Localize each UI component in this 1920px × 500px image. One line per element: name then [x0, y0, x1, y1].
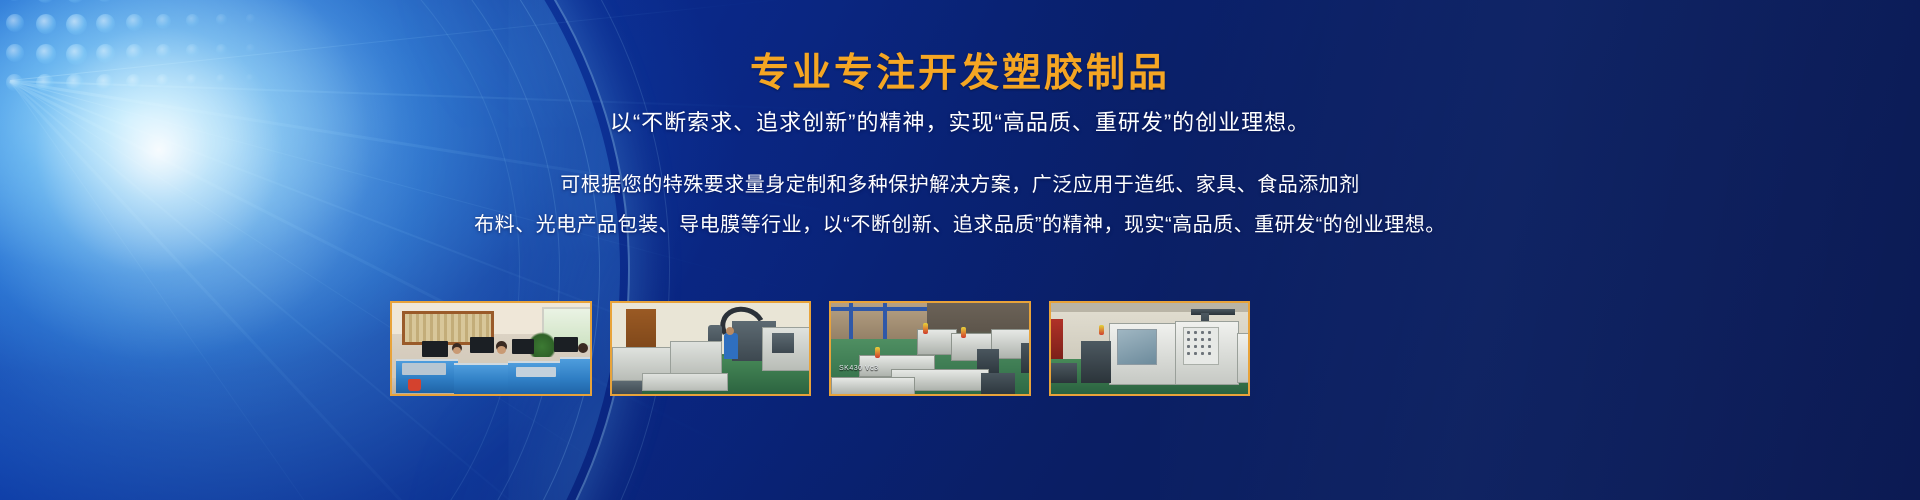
photo-gallery: SK430 Vc3: [390, 301, 1250, 396]
gallery-photo-cnc-workshop[interactable]: [610, 301, 812, 396]
banner-subheadline: 以“不断索求、追求创新”的精神，实现“高品质、重研发”的创业理想。: [0, 105, 1920, 137]
gallery-photo-office[interactable]: [390, 301, 592, 396]
office-photo-art: [392, 303, 590, 394]
gallery-photo-machining-center[interactable]: [1049, 301, 1251, 396]
banner-body-line-1: 可根据您的特殊要求量身定制和多种保护解决方案，广泛应用于造纸、家具、食品添加剂: [0, 168, 1920, 197]
gallery-photo-production-line[interactable]: SK430 Vc3: [829, 301, 1031, 396]
machining-center-photo-art: [1051, 303, 1249, 394]
promo-banner: 专业专注开发塑胶制品 以“不断索求、追求创新”的精神，实现“高品质、重研发”的创…: [0, 0, 1920, 500]
banner-headline: 专业专注开发塑胶制品: [0, 42, 1920, 98]
cnc-workshop-photo-art: [612, 303, 810, 394]
machine-label: SK430 Vc3: [839, 365, 879, 372]
banner-body-line-2: 布料、光电产品包装、导电膜等行业，以“不断创新、追求品质”的精神，现实“高品质、…: [0, 208, 1920, 237]
production-line-photo-art: SK430 Vc3: [831, 303, 1029, 394]
